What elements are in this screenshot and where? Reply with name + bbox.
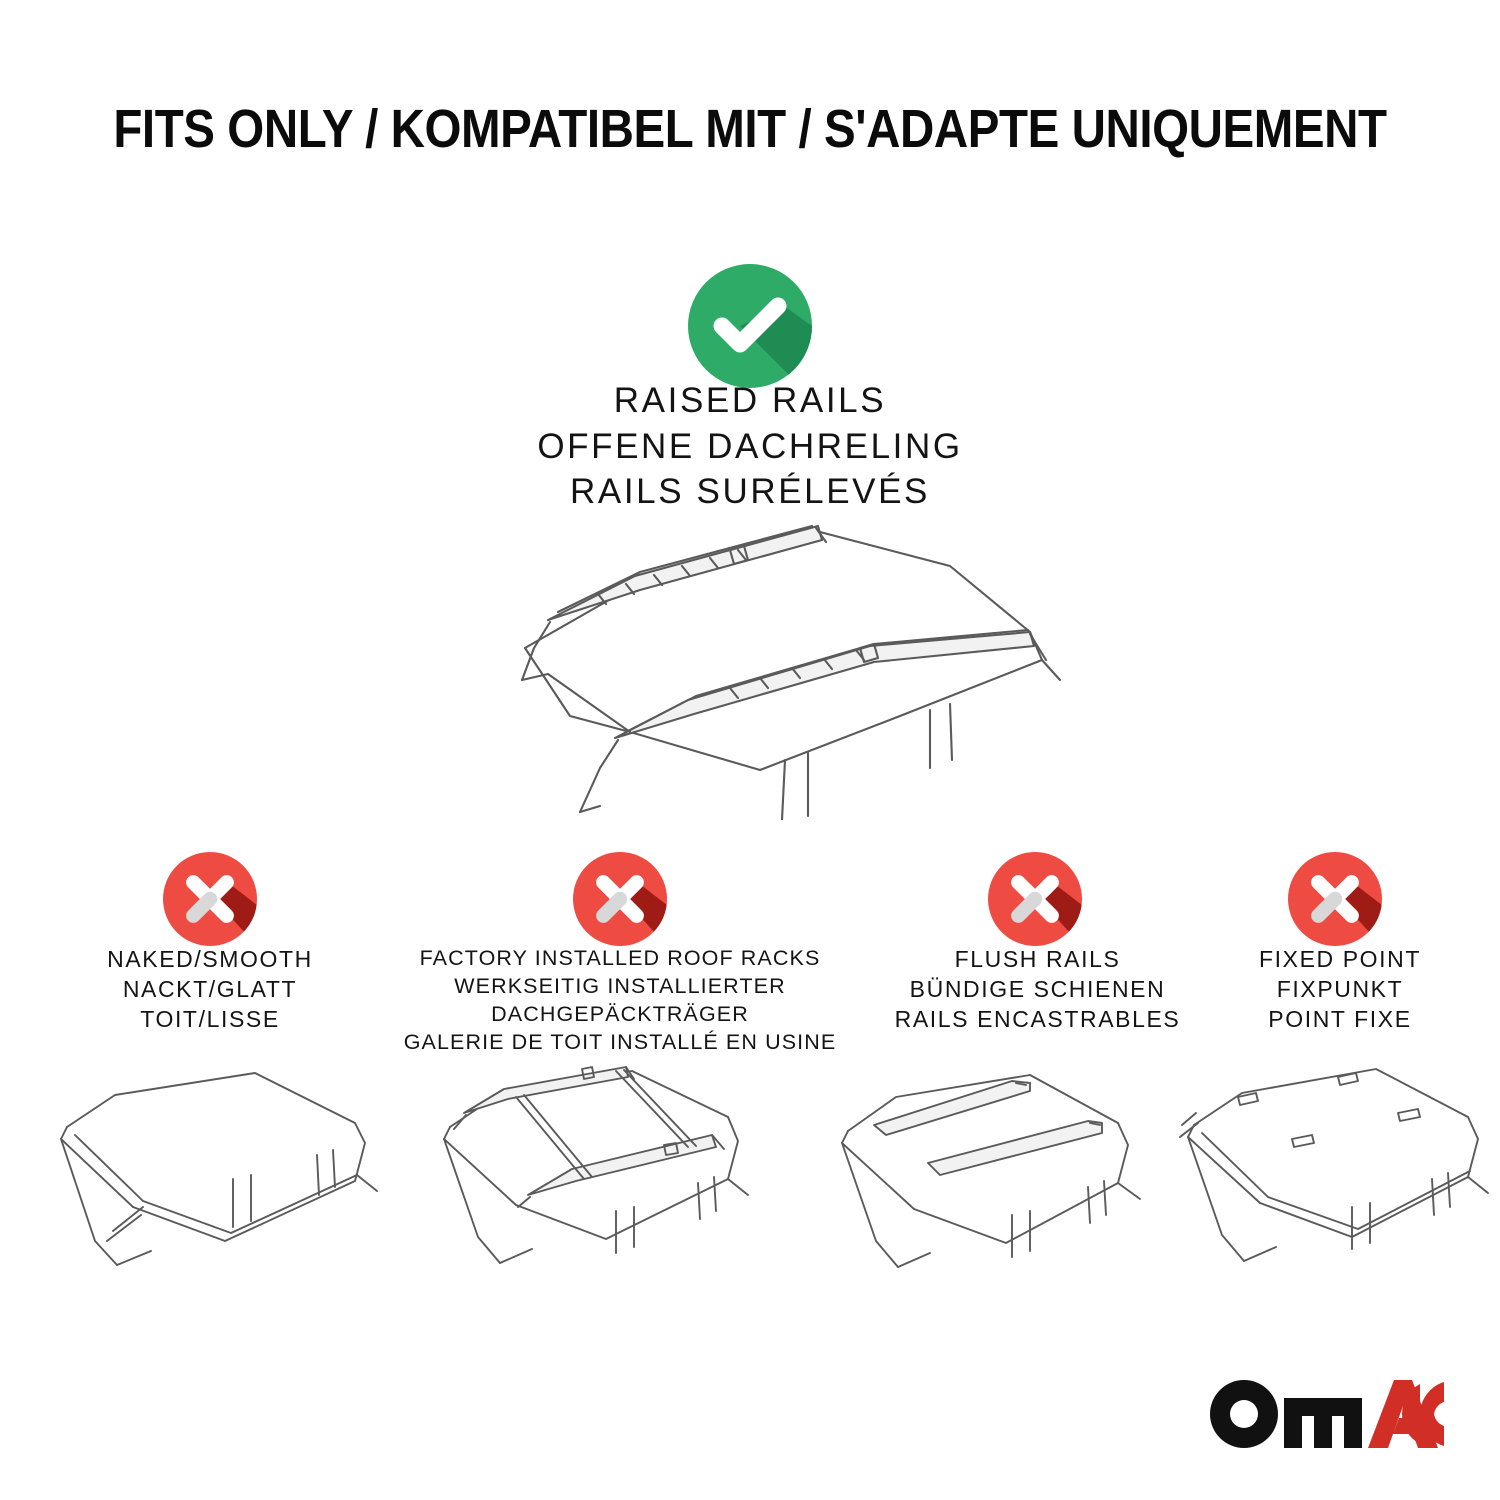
cross-circle-icon-factory-racks (573, 852, 667, 946)
flush-rails-label-line-3: RAILS ENCASTRABLES (855, 1005, 1220, 1035)
compatibility-infographic: FITS ONLY / KOMPATIBEL MIT / S'ADAPTE UN… (0, 0, 1500, 1500)
car-roof-fixed-point-illustration (1180, 1055, 1500, 1285)
check-circle-icon (688, 264, 812, 388)
car-roof-naked-smooth-illustration (55, 1055, 415, 1285)
page-title: FITS ONLY / KOMPATIBEL MIT / S'ADAPTE UN… (90, 98, 1410, 160)
compatible-label: RAISED RAILS OFFENE DACHRELING RAILS SUR… (0, 378, 1500, 515)
compatible-label-line-2: OFFENE DACHRELING (0, 424, 1500, 470)
fixed-point-label-line-3: POINT FIXE (1195, 1005, 1485, 1035)
factory-racks-label-line-3: DACHGEPÄCKTRÄGER (395, 1001, 845, 1029)
factory-racks-label-line-4: GALERIE DE TOIT INSTALLÉ EN USINE (395, 1029, 845, 1057)
cross-circle-icon-fixed-point (1288, 852, 1382, 946)
car-roof-raised-rails-illustration (430, 520, 1080, 820)
naked-smooth-label-line-3: TOIT/LISSE (20, 1005, 400, 1035)
compatible-label-line-3: RAILS SURÉLEVÉS (0, 469, 1500, 515)
flush-rails-label-line-2: BÜNDIGE SCHIENEN (855, 975, 1220, 1005)
car-roof-factory-racks-illustration (420, 1055, 800, 1285)
naked-smooth-label-line-1: NAKED/SMOOTH (20, 945, 400, 975)
cross-circle-icon-flush-rails (988, 852, 1082, 946)
flush-rails-label: FLUSH RAILS BÜNDIGE SCHIENEN RAILS ENCAS… (855, 945, 1220, 1035)
car-roof-flush-rails-illustration (830, 1055, 1210, 1285)
factory-racks-label-line-1: FACTORY INSTALLED ROOF RACKS (395, 945, 845, 973)
factory-racks-label: FACTORY INSTALLED ROOF RACKS WERKSEITIG … (395, 945, 845, 1057)
fixed-point-label-line-1: FIXED POINT (1195, 945, 1485, 975)
flush-rails-label-line-1: FLUSH RAILS (855, 945, 1220, 975)
naked-smooth-label: NAKED/SMOOTH NACKT/GLATT TOIT/LISSE (20, 945, 400, 1035)
compatible-label-line-1: RAISED RAILS (0, 378, 1500, 424)
naked-smooth-label-line-2: NACKT/GLATT (20, 975, 400, 1005)
fixed-point-label: FIXED POINT FIXPUNKT POINT FIXE (1195, 945, 1485, 1035)
fixed-point-label-line-2: FIXPUNKT (1195, 975, 1485, 1005)
omac-logo (1208, 1378, 1444, 1452)
factory-racks-label-line-2: WERKSEITIG INSTALLIERTER (395, 973, 845, 1001)
cross-circle-icon-naked-smooth (163, 852, 257, 946)
